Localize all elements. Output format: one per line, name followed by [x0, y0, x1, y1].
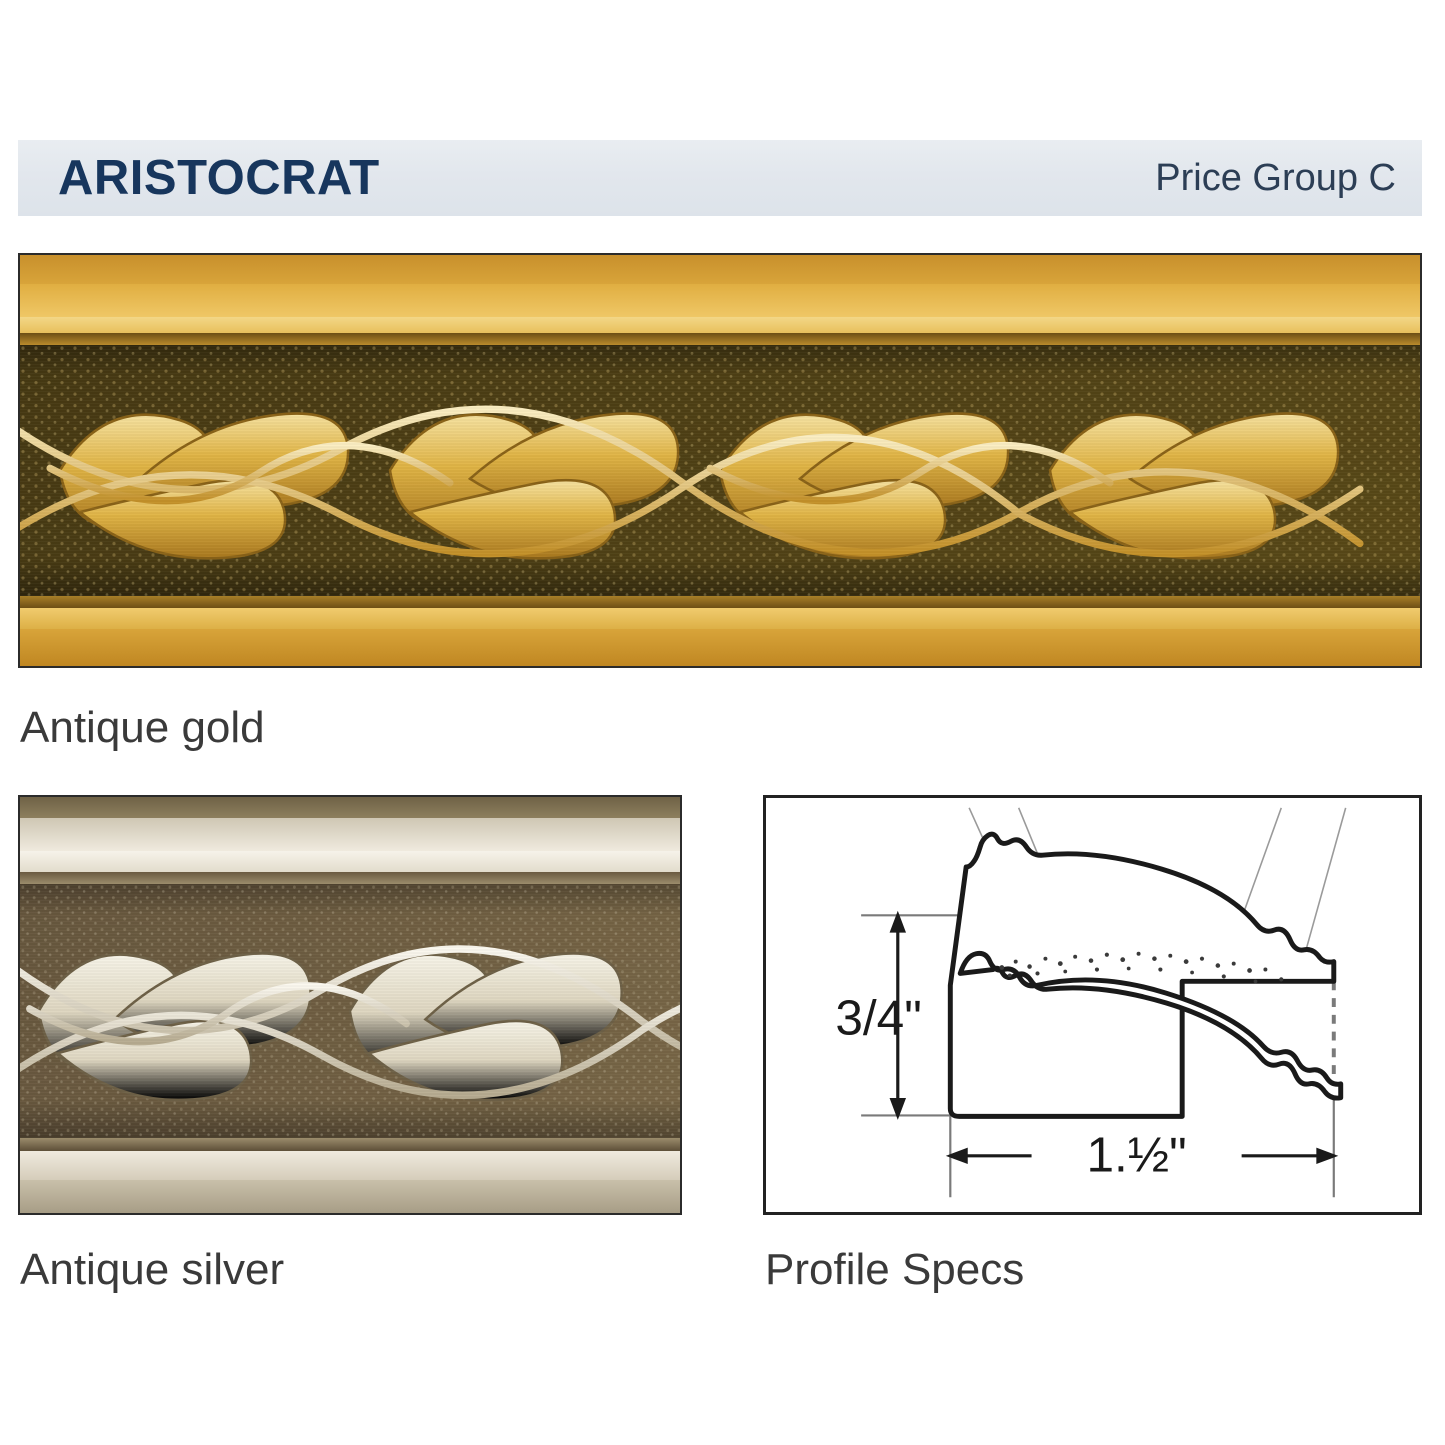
- moulding-band-bottom-outer: [20, 629, 1420, 666]
- moulding-band-bead-bottom: [20, 596, 1420, 608]
- moulding-band-bead-top: [20, 872, 680, 884]
- product-header-bar: ARISTOCRAT Price Group C: [18, 140, 1422, 216]
- profile-specs-caption: Profile Specs: [765, 1248, 1024, 1292]
- height-dimension-label: 3/4": [835, 991, 921, 1046]
- moulding-band-bottom-highlight: [20, 1151, 680, 1180]
- sample-image-antique-silver: [18, 795, 682, 1215]
- acanthus-leaf-ornament-icon: [20, 884, 680, 1138]
- moulding-band-ornament: [20, 345, 1420, 596]
- moulding-band-bottom-highlight: [20, 608, 1420, 629]
- moulding-band-bottom-outer: [20, 1180, 680, 1213]
- profile-specs-diagram: 3/4" 1.½": [763, 795, 1422, 1215]
- moulding-band-top-outer: [20, 797, 680, 818]
- moulding-band-bead-bottom: [20, 1138, 680, 1150]
- sample-caption-antique-gold: Antique gold: [20, 706, 265, 750]
- moulding-band-bead-top: [20, 333, 1420, 345]
- moulding-band-top-highlight: [20, 317, 1420, 333]
- moulding-band-top-mid: [20, 284, 1420, 317]
- moulding-band-top-highlight: [20, 851, 680, 872]
- acanthus-leaf-ornament-icon: [20, 345, 1420, 596]
- sample-caption-antique-silver: Antique silver: [20, 1248, 284, 1292]
- moulding-band-top-outer: [20, 255, 1420, 284]
- moulding-band-ornament: [20, 884, 680, 1138]
- sample-image-antique-gold: [18, 253, 1422, 668]
- width-dimension-label: 1.½": [1086, 1128, 1186, 1183]
- moulding-profile-gold: [20, 255, 1420, 666]
- moulding-band-top-mid: [20, 818, 680, 851]
- price-group-label: Price Group C: [1155, 159, 1396, 197]
- moulding-profile-silver: [20, 797, 680, 1213]
- page-title: ARISTOCRAT: [58, 154, 380, 203]
